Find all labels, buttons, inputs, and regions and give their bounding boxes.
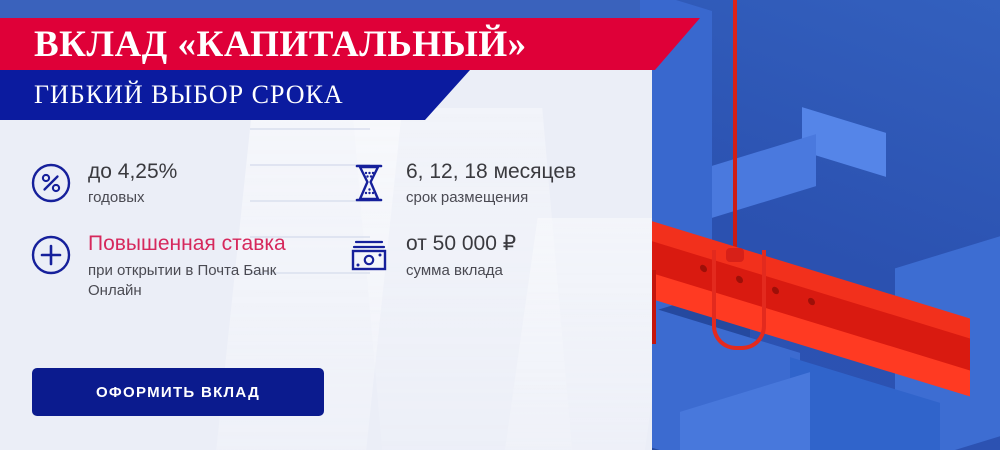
page-subtitle: ГИБКИЙ ВЫБОР СРОКА [34, 82, 344, 108]
feature-amount-title: от 50 000 ₽ [406, 232, 516, 256]
banknote-icon [346, 232, 392, 278]
ibeam-bolt [700, 264, 707, 273]
ibeam-bolt [808, 297, 815, 306]
illustration-scene [640, 0, 1000, 450]
rope-knot [726, 248, 744, 262]
subtitle-band: ГИБКИЙ ВЫБОР СРОКА [0, 70, 470, 120]
feature-term-subtitle: срок размещения [406, 188, 576, 208]
hourglass-icon [346, 160, 392, 206]
feature-rate: до 4,25% годовых [28, 158, 346, 208]
red-ibeam [640, 268, 1000, 450]
watermark-line [250, 128, 370, 130]
feature-term: 6, 12, 18 месяцев срок размещения [346, 158, 636, 208]
feature-amount: от 50 000 ₽ сумма вклада [346, 230, 636, 301]
headline-band: ВКЛАД «КАПИТАЛЬНЫЙ» [0, 18, 700, 70]
percent-icon [28, 160, 74, 206]
feature-rate-title: до 4,25% [88, 160, 177, 184]
feature-bonus-subtitle: при открытии в Почта Банк Онлайн [88, 261, 318, 302]
feature-bonus-title: Повышенная ставка [88, 232, 318, 256]
feature-list: до 4,25% годовых [28, 158, 628, 301]
feature-bonus: Повышенная ставка при открытии в Почта Б… [28, 230, 346, 301]
ibeam-bolt [772, 286, 779, 295]
open-deposit-button[interactable]: ОФОРМИТЬ ВКЛАД [32, 368, 324, 416]
feature-term-title: 6, 12, 18 месяцев [406, 160, 576, 184]
page-title: ВКЛАД «КАПИТАЛЬНЫЙ» [34, 26, 527, 63]
feature-bonus-body: Повышенная ставка при открытии в Почта Б… [88, 230, 318, 301]
feature-rate-subtitle: годовых [88, 188, 177, 208]
rope-sling [712, 250, 766, 350]
plus-icon [28, 232, 74, 278]
feature-amount-subtitle: сумма вклада [406, 261, 516, 281]
deposit-promo-banner: ВКЛАД «КАПИТАЛЬНЫЙ» ГИБКИЙ ВЫБОР СРОКА д… [0, 0, 1000, 450]
red-rope [733, 0, 737, 262]
feature-rate-body: до 4,25% годовых [88, 158, 177, 208]
feature-amount-body: от 50 000 ₽ сумма вклада [406, 230, 516, 280]
feature-term-body: 6, 12, 18 месяцев срок размещения [406, 158, 576, 208]
